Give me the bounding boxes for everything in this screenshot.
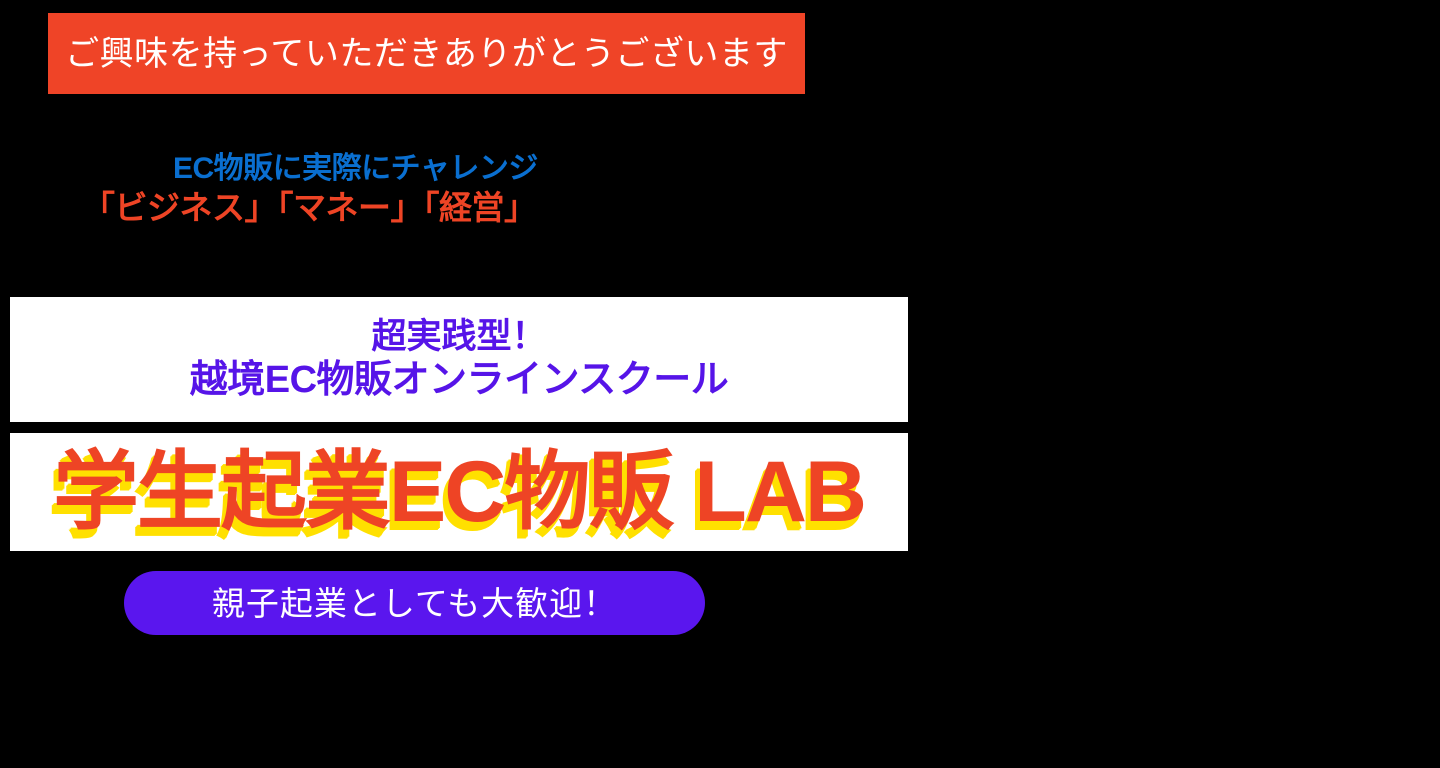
subtitle-panel: 超実践型！ 越境EC物販オンラインスクール <box>10 297 908 422</box>
interest-thanks-banner: ご興味を持っていただきありがとうございます <box>48 13 805 94</box>
parent-child-welcome-pill[interactable]: 親子起業としても大歓迎！ <box>124 571 705 635</box>
interest-thanks-banner-text: ご興味を持っていただきありがとうございます <box>65 37 788 71</box>
parent-child-welcome-pill-label: 親子起業としても大歓迎！ <box>212 587 617 620</box>
tagline-block: EC物販に実際にチャレンジ 「ビジネス」「マネー」「経営」 <box>0 152 920 227</box>
subtitle-school-line: 越境EC物販オンラインスクール <box>190 358 729 403</box>
tagline-keywords-line: 「ビジネス」「マネー」「経営」 <box>0 190 920 227</box>
poster-canvas: ご興味を持っていただきありがとうございます EC物販に実際にチャレンジ 「ビジネ… <box>0 0 1440 768</box>
tagline-challenge-line: EC物販に実際にチャレンジ <box>0 152 920 186</box>
brand-title: 学生起業EC物販 LAB <box>53 449 865 535</box>
title-panel: 学生起業EC物販 LAB <box>10 433 908 551</box>
subtitle-practical-line: 超実践型！ <box>371 316 546 357</box>
